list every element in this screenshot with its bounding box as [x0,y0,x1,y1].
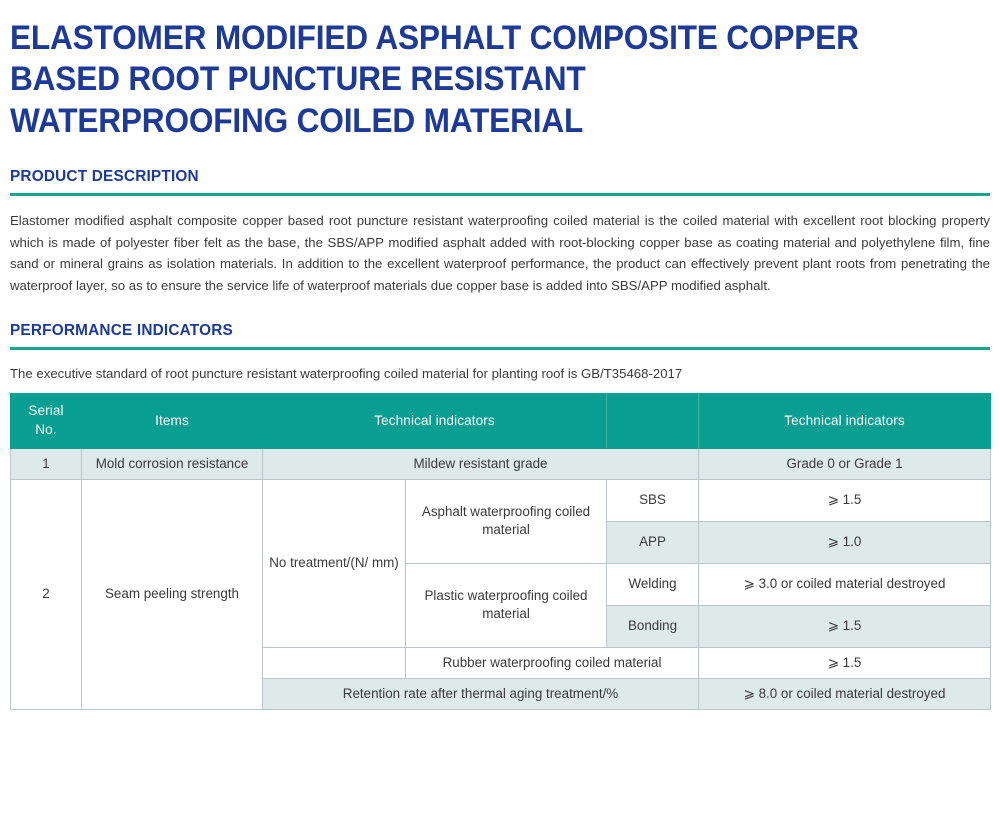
cell-treatment-group-label: No treatment/(N/ mm) [263,479,406,647]
cell-empty-spacer [263,647,406,678]
performance-indicators-heading: PERFORMANCE INDICATORS [10,322,951,340]
cell-item-name: Seam peeling strength [82,479,263,709]
cell-type-bonding: Bonding [607,605,699,647]
column-header-spacer [607,393,699,448]
column-header-items: Items [82,393,263,448]
cell-value-bonding: ⩾ 1.5 [699,605,991,647]
product-description-section: PRODUCT DESCRIPTION Elastomer modified a… [10,168,990,296]
performance-indicators-table: Serial No. Items Technical indicators Te… [10,393,991,710]
product-description-paragraph: Elastomer modified asphalt composite cop… [10,210,990,296]
table-header-row: Serial No. Items Technical indicators Te… [11,393,991,448]
executive-standard-note: The executive standard of root puncture … [10,364,990,384]
cell-item-name: Mold corrosion resistance [82,448,263,479]
document-page: ELASTOMER MODIFIED ASPHALT COMPOSITE COP… [0,0,1000,818]
cell-technical-value: Grade 0 or Grade 1 [699,448,991,479]
cell-value-welding: ⩾ 3.0 or coiled material destroyed [699,563,991,605]
table-row: 2 Seam peeling strength No treatment/(N/… [11,479,991,521]
cell-rubber-detail: Rubber waterproofing coiled material [406,647,699,678]
page-title: ELASTOMER MODIFIED ASPHALT COMPOSITE COP… [10,0,866,142]
cell-retention-detail: Retention rate after thermal aging treat… [263,678,699,709]
product-description-heading: PRODUCT DESCRIPTION [10,168,951,186]
cell-retention-value: ⩾ 8.0 or coiled material destroyed [699,678,991,709]
cell-type-sbs: SBS [607,479,699,521]
section-divider-rule [10,193,990,196]
column-header-serial-no: Serial No. [11,393,82,448]
cell-value-app: ⩾ 1.0 [699,521,991,563]
performance-indicators-section: PERFORMANCE INDICATORS The executive sta… [10,322,990,710]
cell-technical-detail: Mildew resistant grade [263,448,699,479]
cell-type-welding: Welding [607,563,699,605]
cell-type-app: APP [607,521,699,563]
section-divider-rule [10,347,990,350]
cell-rubber-value: ⩾ 1.5 [699,647,991,678]
cell-value-sbs: ⩾ 1.5 [699,479,991,521]
cell-subgroup-asphalt: Asphalt waterproofing coiled material [406,479,607,563]
cell-serial-no: 2 [11,479,82,709]
cell-serial-no: 1 [11,448,82,479]
cell-subgroup-plastic: Plastic waterproofing coiled material [406,563,607,647]
table-row: 1 Mold corrosion resistance Mildew resis… [11,448,991,479]
column-header-technical-indicators-2: Technical indicators [699,393,991,448]
column-header-technical-indicators-1: Technical indicators [263,393,607,448]
